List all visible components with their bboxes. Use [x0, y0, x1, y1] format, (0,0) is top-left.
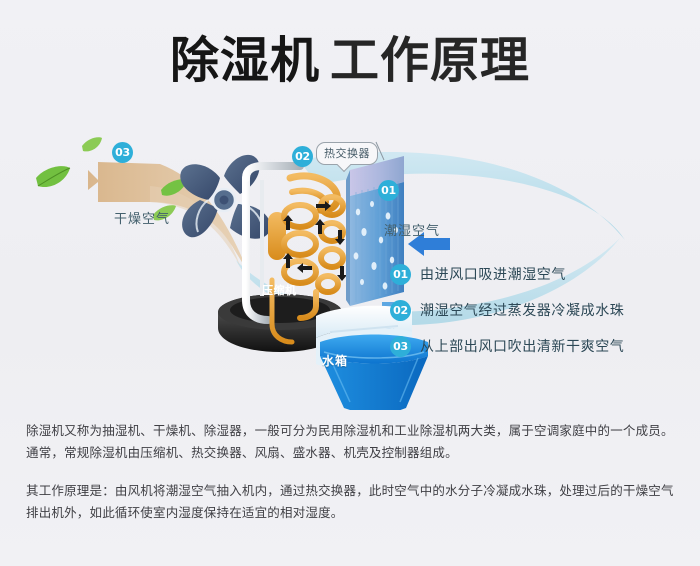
paragraph-definition: 除湿机又称为抽湿机、干燥机、除湿器，一般可分为民用除湿机和工业除湿机两大类，属于…: [26, 420, 682, 464]
label-water-tank: 水箱: [322, 352, 348, 369]
legend-item-01: 01 由进风口吸进潮湿空气: [390, 256, 690, 292]
legend-badge-03: 03: [390, 336, 411, 357]
label-heat-exchanger: 热交换器: [316, 142, 378, 165]
principle-legend-list: 01 由进风口吸进潮湿空气 02 潮湿空气经过蒸发器冷凝成水珠 03 从上部出风…: [390, 256, 690, 364]
legend-label-01: 由进风口吸进潮湿空气: [420, 264, 566, 284]
badge-03-diagram: 03: [112, 142, 133, 163]
legend-item-02: 02 潮湿空气经过蒸发器冷凝成水珠: [390, 292, 690, 328]
label-dry-air: 干燥空气: [114, 208, 170, 227]
label-humid-air: 潮湿空气: [384, 220, 440, 239]
legend-label-03: 从上部出风口吹出清新干爽空气: [420, 336, 624, 356]
legend-badge-01: 01: [390, 264, 411, 285]
badge-02-diagram: 02: [292, 146, 313, 167]
page-title: 除湿机工作原理: [0, 32, 700, 90]
title-part-principle: 工作原理: [330, 32, 530, 89]
description-copy: 除湿机又称为抽湿机、干燥机、除湿器，一般可分为民用除湿机和工业除湿机两大类，属于…: [26, 420, 682, 524]
label-compressor: 压缩机: [262, 282, 297, 298]
legend-badge-02: 02: [390, 300, 411, 321]
legend-label-02: 潮湿空气经过蒸发器冷凝成水珠: [420, 300, 624, 320]
paragraph-working-principle: 其工作原理是：由风机将潮湿空气抽入机内，通过热交换器，此时空气中的水分子冷凝成水…: [26, 480, 682, 524]
title-part-product: 除湿机: [170, 32, 320, 89]
badge-01-diagram: 01: [378, 180, 399, 201]
page-root: 除湿机工作原理: [0, 0, 700, 566]
legend-item-03: 03 从上部出风口吹出清新干爽空气: [390, 328, 690, 364]
